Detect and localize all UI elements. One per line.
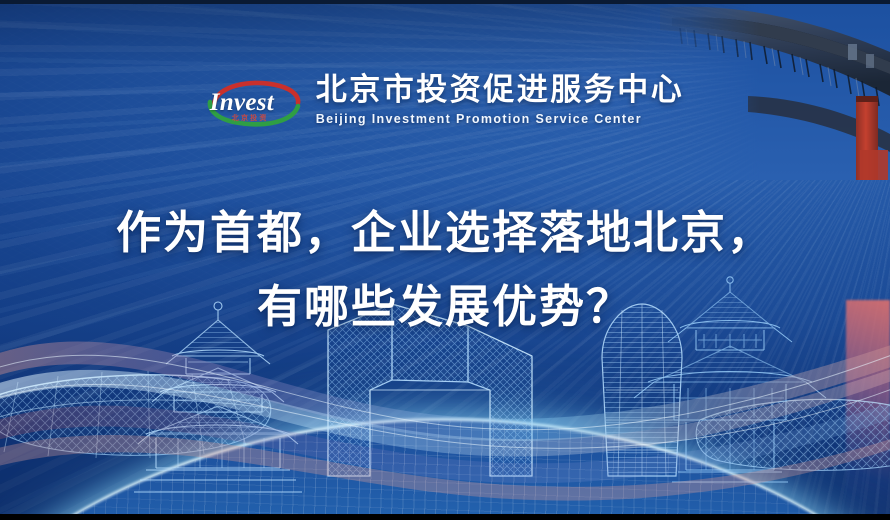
letterbox-bar-top [0, 0, 890, 4]
invest-beijing-logo: Invest 北京投资 [206, 78, 302, 128]
video-frame: Invest 北京投资 北京市投资促进服务中心 Beijing Investme… [0, 0, 890, 520]
headline-block: 作为首都，企业选择落地北京， 有哪些发展优势？ [0, 196, 890, 344]
headline-line-1: 作为首都，企业选择落地北京， [0, 196, 890, 270]
org-name-cn: 北京市投资促进服务中心 [316, 74, 685, 107]
logo-subtext-cn: 北京投资 [232, 113, 269, 123]
letterbox-bar-bottom [0, 514, 890, 520]
headline-line-2: 有哪些发展优势？ [0, 270, 890, 344]
brand-lockup: Invest 北京投资 北京市投资促进服务中心 Beijing Investme… [0, 74, 890, 128]
org-name-en: Beijing Investment Promotion Service Cen… [316, 113, 685, 127]
org-titles: 北京市投资促进服务中心 Beijing Investment Promotion… [316, 74, 685, 126]
